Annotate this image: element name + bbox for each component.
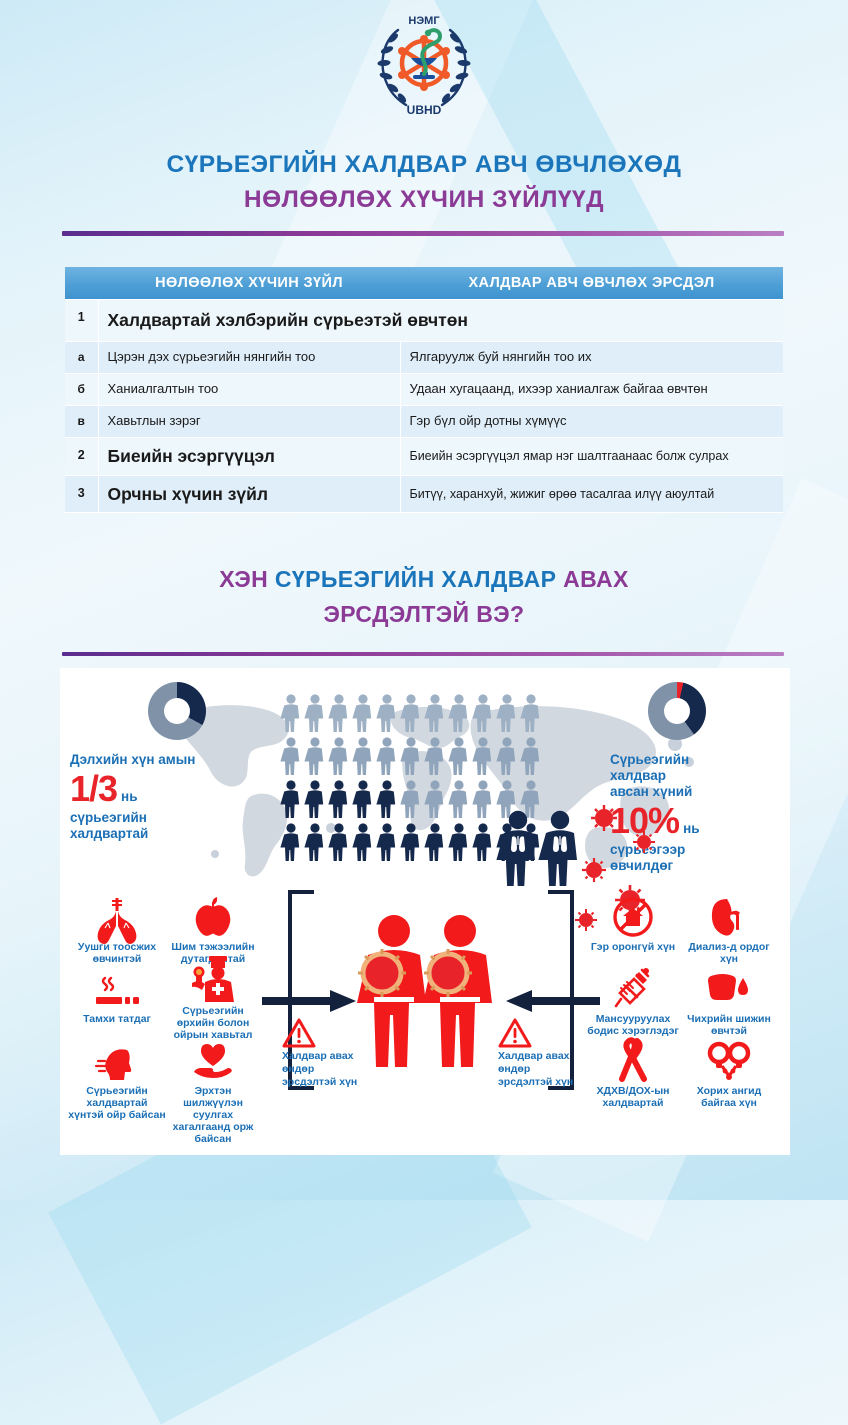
stat-right-suffix: нь — [683, 821, 699, 842]
risk-item-right-0: Гэр оронгүй хүн — [584, 896, 682, 953]
kidney-icon — [680, 896, 778, 938]
risk-item-left-1: Шим тэжээлийн дутагдалтай — [164, 896, 262, 965]
risk-item-right-2: Мансууруулах бодис хэрэглэдэг — [584, 968, 682, 1037]
risk-item-right-5: Хорих ангид байгаа хүн — [680, 1040, 778, 1109]
syringe-icon — [584, 968, 682, 1010]
warning-caption: Халдвар авах өндөр эрсдэлтэй хүн — [282, 1050, 368, 1089]
row-risk: Битүү, харанхуй, жижиг өрөө тасалгаа илү… — [400, 475, 783, 513]
risk-caption: Сүрьеэгийн өрхийн болон ойрын хавьтал — [164, 1005, 262, 1041]
risk-caption: Диализ-д ордог хүн — [680, 941, 778, 965]
main-title: СҮРЬЕЭГИЙН ХАЛДВАР АВЧ ӨВЧЛӨХӨД НӨЛӨӨЛӨХ… — [0, 148, 848, 218]
risk-caption: Мансууруулах бодис хэрэглэдэг — [584, 1013, 682, 1037]
cigarette-icon — [68, 968, 166, 1010]
apple-icon — [164, 896, 262, 938]
risk-item-left-4: Сүрьеэгийн халдвартай хүнтэй ойр байсан — [68, 1040, 166, 1121]
risk-item-right-3: Чихрийн шижин өвчтэй — [680, 968, 778, 1037]
poster-page: НЭМГ UBHD СҮРЬЕЭГИЙН ХАЛДВАР АВЧ ӨВЧЛӨХӨ… — [0, 0, 848, 1200]
logo-top-text: НЭМГ — [408, 15, 440, 27]
stat-right-label-1: Сүрьеэгийн — [610, 752, 750, 768]
table-row: 1 Халдвартай хэлбэрийн сүрьеэтэй өвчтөн — [65, 300, 783, 342]
row-factor: Орчны хүчин зүйл — [98, 475, 400, 513]
organization-logo: НЭМГ UBHD — [368, 8, 480, 120]
title-divider — [62, 231, 784, 236]
heading2-part-1: ХЭН — [219, 566, 275, 592]
warning-triangle-icon — [498, 1018, 584, 1048]
row-risk: Ялгаруулж буй нянгийн тоо их — [400, 342, 783, 374]
risk-item-left-2: Тамхи татдаг — [68, 968, 166, 1025]
heading2-part-2: СҮРЬЕЭГИЙН ХАЛДВАР — [275, 566, 563, 592]
doctor-icon — [164, 960, 262, 1002]
risk-caption: Эрхтэн шилжүүлэн суулгах хагалгаанд орж … — [164, 1085, 262, 1145]
stat-left-tail-1: сүрьеэгийн — [70, 810, 220, 826]
header-risk: ХАЛДВАР АВЧ ӨВЧЛӨХ ЭРСДЭЛ — [400, 267, 783, 300]
risk-item-left-3: Сүрьеэгийн өрхийн болон ойрын хавьтал — [164, 960, 262, 1041]
row-factor: Биеийн эсэргүүцэл — [98, 437, 400, 475]
row-number: 1 — [65, 300, 98, 342]
no-house-icon — [584, 896, 682, 938]
risk-caption: Чихрийн шижин өвчтэй — [680, 1013, 778, 1037]
heading2-divider — [62, 652, 784, 656]
stat-left-suffix: нь — [121, 789, 137, 810]
secondary-heading: ХЭН СҮРЬЕЭГИЙН ХАЛДВАР АВАХ ЭРСДЭЛТЭЙ ВЭ… — [0, 562, 848, 631]
row-number: 2 — [65, 437, 98, 475]
risk-caption: Гэр оронгүй хүн — [584, 941, 682, 953]
risk-item-right-1: Диализ-д ордог хүн — [680, 896, 778, 965]
stat-right-label-3: авсан хүний — [610, 784, 750, 800]
stat-right-label-2: халдвар — [610, 768, 750, 784]
table-row: а Цэрэн дэх сүрьеэгийн нянгийн тоо Ялгар… — [65, 342, 783, 374]
risk-caption: Сүрьеэгийн халдвартай хүнтэй ойр байсан — [68, 1085, 166, 1121]
logo-container: НЭМГ UBHD — [0, 8, 848, 120]
risk-caption: Тамхи татдаг — [68, 1013, 166, 1025]
warning-left: Халдвар авах өндөр эрсдэлтэй хүн — [282, 1018, 368, 1089]
table-row: 3 Орчны хүчин зүйл Битүү, харанхуй, жижи… — [65, 475, 783, 513]
aids-ribbon-icon — [584, 1040, 682, 1082]
table-header-row: НӨЛӨӨЛӨХ ХҮЧИН ЗҮЙЛ ХАЛДВАР АВЧ ӨВЧЛӨХ Э… — [65, 267, 783, 300]
header-factor: НӨЛӨӨЛӨХ ХҮЧИН ЗҮЙЛ — [98, 267, 400, 300]
row-factor: Хавьтлын зэрэг — [98, 405, 400, 437]
blood-drop-icon — [680, 968, 778, 1010]
stat-left: Дэлхийн хүн амын 1/3 нь сүрьеэгийн халдв… — [70, 752, 220, 842]
heading2-part-3: АВАХ — [563, 566, 629, 592]
heading2-line-1: ХЭН СҮРЬЕЭГИЙН ХАЛДВАР АВАХ — [0, 562, 848, 597]
heart-in-hand-icon — [164, 1040, 262, 1082]
infographic-panel: Дэлхийн хүн амын 1/3 нь сүрьеэгийн халдв… — [60, 668, 790, 1155]
risk-item-right-4: ХДХВ/ДОХ-ын халдвартай — [584, 1040, 682, 1109]
header-number — [65, 267, 98, 300]
warning-triangle-icon — [282, 1018, 368, 1048]
row-risk: Биеийн эсэргүүцэл ямар нэг шалтгаанаас б… — [400, 437, 783, 475]
heading2-line-2: ЭРСДЭЛТЭЙ ВЭ? — [0, 597, 848, 632]
handcuffs-icon — [680, 1040, 778, 1082]
title-line-1: СҮРЬЕЭГИЙН ХАЛДВАР АВЧ ӨВЧЛӨХӨД — [0, 148, 848, 183]
risk-item-left-0: Уушги тоосжих өвчинтэй — [68, 896, 166, 965]
risk-caption: Хорих ангид байгаа хүн — [680, 1085, 778, 1109]
row-factor: Халдвартай хэлбэрийн сүрьеэтэй өвчтөн — [98, 300, 783, 342]
risk-caption: Уушги тоосжих өвчинтэй — [68, 941, 166, 965]
row-factor: Ханиалгалтын тоо — [98, 374, 400, 406]
risk-factors-table: НӨЛӨӨЛӨХ ХҮЧИН ЗҮЙЛ ХАЛДВАР АВЧ ӨВЧЛӨХ Э… — [65, 267, 783, 513]
center-at-risk-figures — [360, 913, 500, 1073]
logo-bottom-text: UBHD — [407, 103, 442, 117]
lungs-icon — [68, 896, 166, 938]
title-line-2: НӨЛӨӨЛӨХ ХҮЧИН ЗҮЙЛҮҮД — [0, 183, 848, 218]
coughing-head-icon — [68, 1040, 166, 1082]
row-number: в — [65, 405, 98, 437]
donut-chart-right — [648, 682, 706, 740]
stat-left-big: 1/3 — [70, 768, 117, 810]
donut-chart-left — [148, 682, 206, 740]
row-risk: Удаан хугацаанд, ихээр ханиалгаж байгаа … — [400, 374, 783, 406]
row-number: б — [65, 374, 98, 406]
warning-caption: Халдвар авах өндөр эрсдэлтэй хүн — [498, 1050, 584, 1089]
row-risk: Гэр бүл ойр дотны хүмүүс — [400, 405, 783, 437]
table-row: б Ханиалгалтын тоо Удаан хугацаанд, ихээ… — [65, 374, 783, 406]
table-row: 2 Биеийн эсэргүүцэл Биеийн эсэргүүцэл ям… — [65, 437, 783, 475]
row-number: 3 — [65, 475, 98, 513]
risk-caption: ХДХВ/ДОХ-ын халдвартай — [584, 1085, 682, 1109]
warning-right: Халдвар авах өндөр эрсдэлтэй хүн — [498, 1018, 584, 1089]
stat-left-label: Дэлхийн хүн амын — [70, 752, 220, 768]
risk-item-left-5: Эрхтэн шилжүүлэн суулгах хагалгаанд орж … — [164, 1040, 262, 1145]
stat-left-value-row: 1/3 нь — [70, 768, 220, 810]
row-factor: Цэрэн дэх сүрьеэгийн нянгийн тоо — [98, 342, 400, 374]
stat-left-tail-2: халдвартай — [70, 826, 220, 842]
row-number: а — [65, 342, 98, 374]
table-row: в Хавьтлын зэрэг Гэр бүл ойр дотны хүмүү… — [65, 405, 783, 437]
